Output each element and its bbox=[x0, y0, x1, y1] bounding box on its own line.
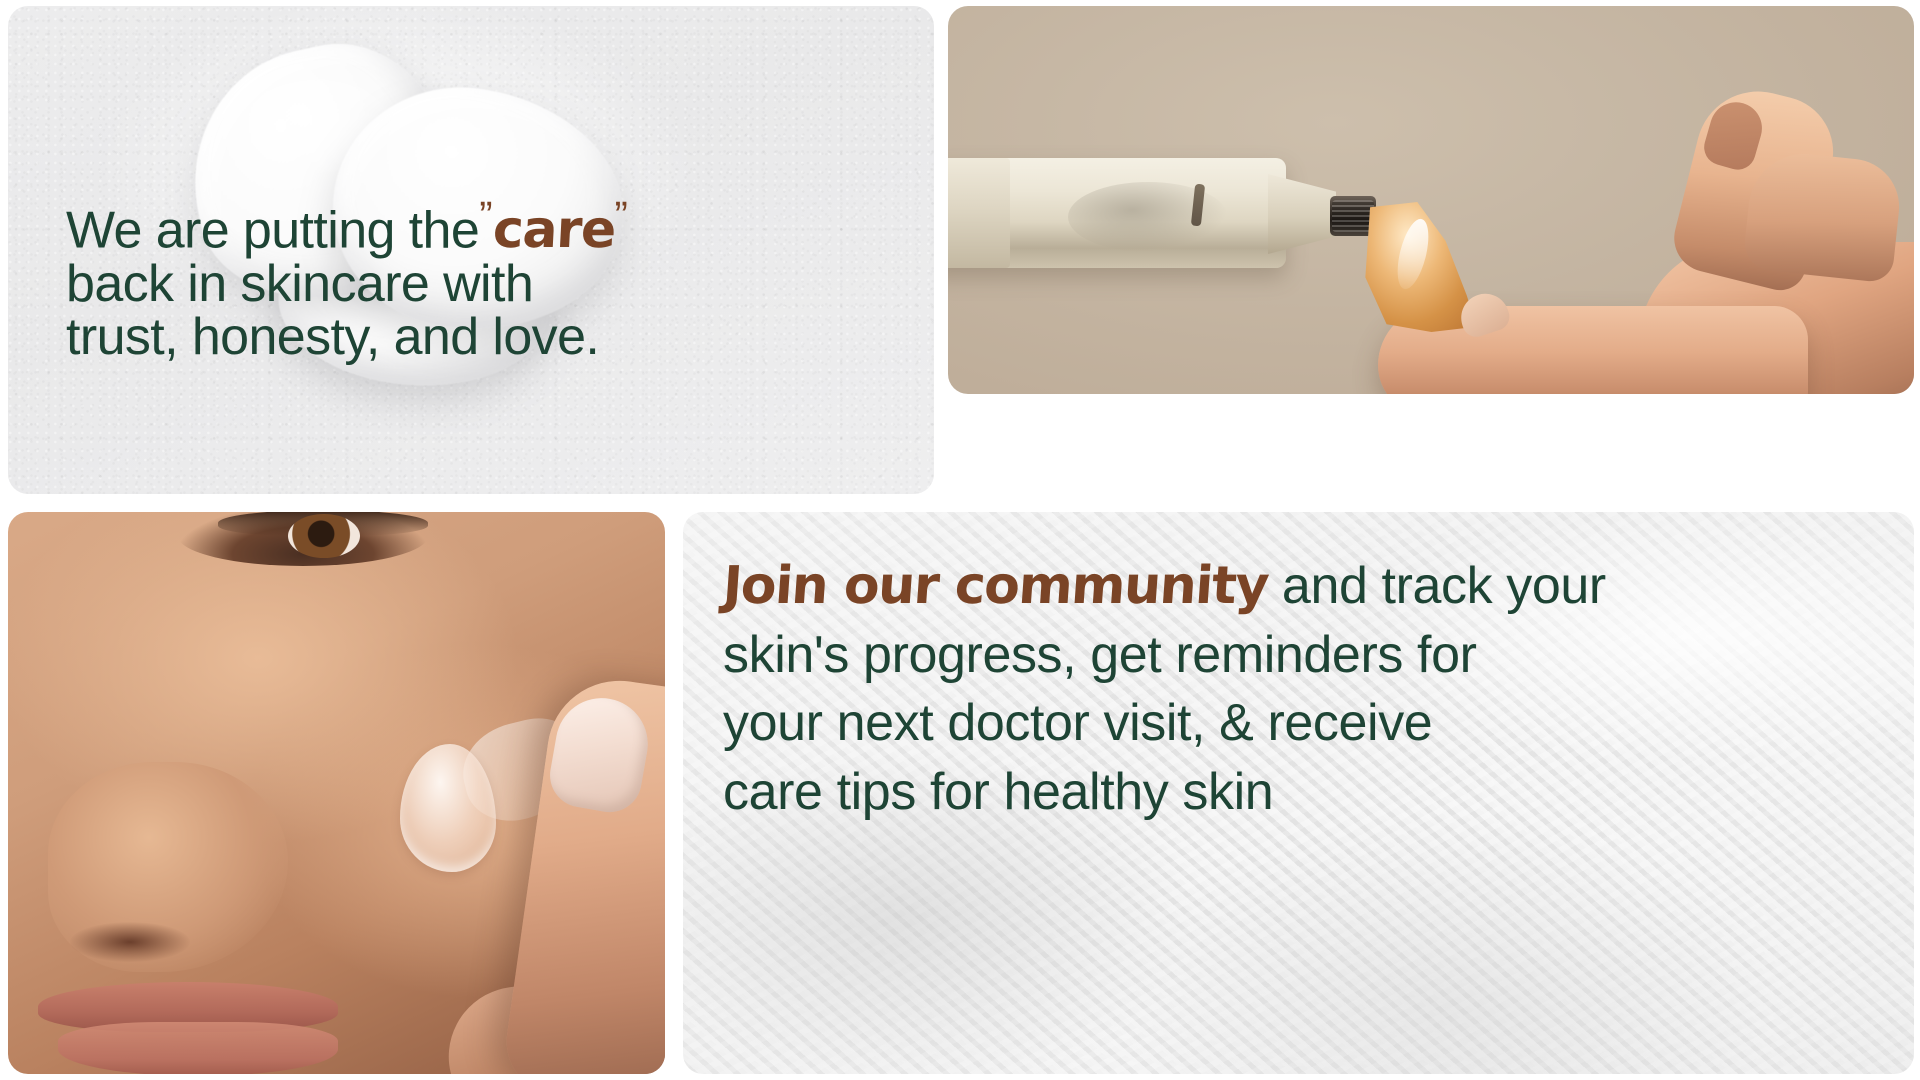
community-line-4: care tips for healthy skin bbox=[723, 758, 1893, 827]
brand-promise-headline: We are putting the”care” back in skincar… bbox=[66, 196, 886, 365]
cream-tube-crimp bbox=[948, 158, 1010, 268]
accent-phrase-join-our-community: Join our community bbox=[721, 552, 1271, 621]
community-invite-card[interactable]: Join our community and track your skin's… bbox=[683, 512, 1914, 1074]
community-line-1: Join our community and track your bbox=[723, 552, 1893, 621]
community-line-1-rest: and track your bbox=[1282, 557, 1606, 615]
community-line-2: skin's progress, get reminders for bbox=[723, 621, 1893, 690]
headline-line-1-lead: We are putting the bbox=[66, 201, 479, 259]
application-closeup-card[interactable] bbox=[8, 512, 665, 1074]
lower-lip bbox=[58, 1022, 338, 1074]
cream-heart-highlight bbox=[243, 80, 393, 180]
community-line-3: your next doctor visit, & receive bbox=[723, 689, 1893, 758]
image-collage: We are putting the”care” back in skincar… bbox=[0, 0, 1920, 1080]
headline-line-2: back in skincare with bbox=[66, 258, 886, 312]
headline-line-3: trust, honesty, and love. bbox=[66, 311, 886, 365]
middle-finger bbox=[1742, 148, 1904, 283]
product-dispense-card[interactable] bbox=[948, 6, 1914, 394]
accent-word-care: care bbox=[491, 204, 616, 258]
iris bbox=[288, 514, 360, 558]
nostril bbox=[70, 922, 190, 962]
community-invite-headline: Join our community and track your skin's… bbox=[723, 552, 1893, 827]
brand-promise-card[interactable]: We are putting the”care” back in skincar… bbox=[8, 6, 934, 494]
headline-line-1: We are putting the”care” bbox=[66, 196, 886, 258]
accent-open-quote: ” bbox=[479, 194, 492, 238]
